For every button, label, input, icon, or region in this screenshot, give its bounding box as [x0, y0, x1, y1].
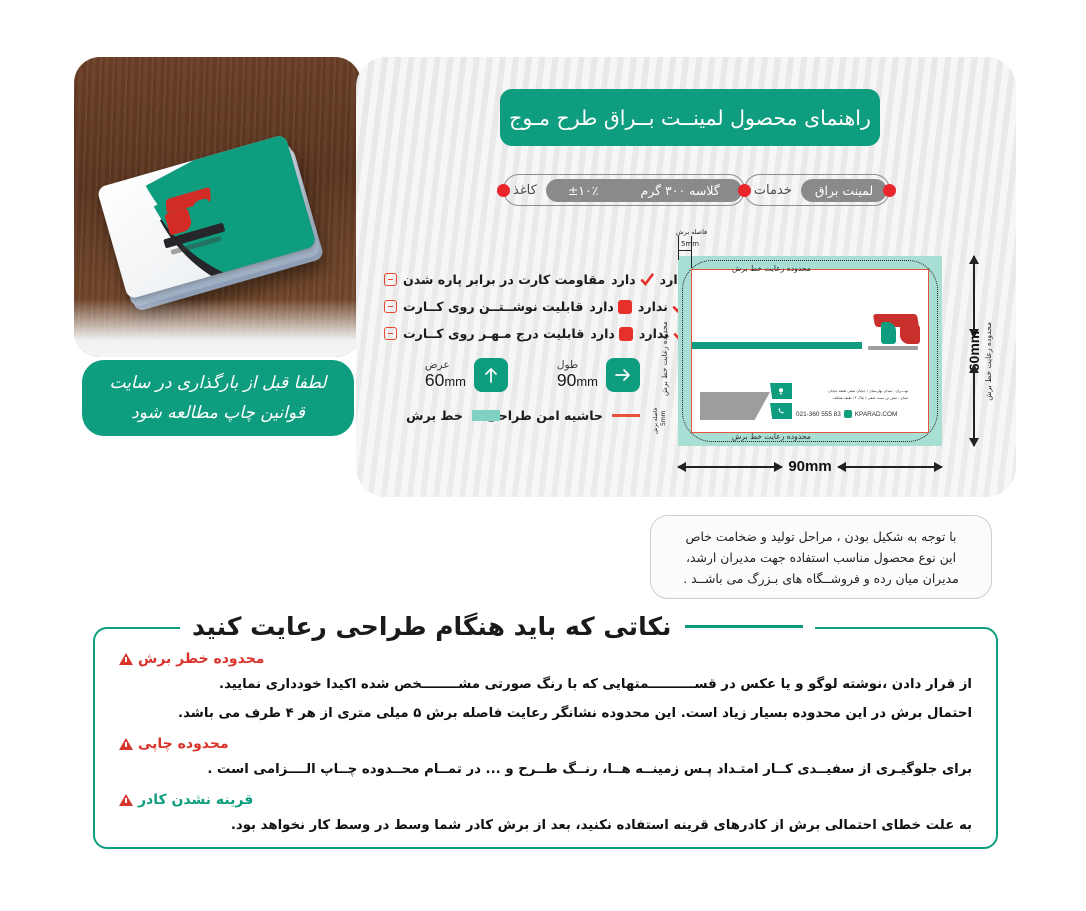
- design-note: محدوده خطر برش از قرار دادن ،نوشته لوگو …: [119, 651, 972, 727]
- card-spec-diagram: تهــــران : میدان بهارستان / خیابان صفی …: [652, 226, 982, 476]
- filled-square-icon: [619, 327, 633, 341]
- product-description-box: با توجه به شکیل بودن ، مراحل تولید و ضخا…: [650, 515, 992, 599]
- spec-dot-right: [497, 184, 510, 197]
- diagram-label-bottom: محدوده رعایت خط برش: [732, 432, 811, 441]
- product-photo-card: [74, 57, 361, 357]
- checklist-option-yes: دارد: [589, 299, 632, 314]
- width-dimension-line: 90mm: [678, 458, 942, 475]
- diagram-label-left: محدوده رعایت خط برش: [660, 321, 669, 396]
- card-contact: 021-360 555 83 KPARAD.COM: [796, 410, 897, 418]
- diagram-width-value: 90mm: [788, 458, 831, 475]
- bleed-arrow-top: [678, 250, 691, 251]
- spec-value-paper-tolerance: ±۱۰٪: [568, 183, 599, 198]
- diagram-legend: حاشیه امن طراحی خط برش: [452, 408, 640, 430]
- dimension-length-unit: mm: [576, 374, 598, 389]
- teal-box-swatch-icon: [472, 410, 500, 421]
- design-note: قرینه نشدن کادر به علت خطای احتمالی برش …: [119, 792, 972, 839]
- dimension-badges: طول 90mm عرض 60mm: [452, 358, 640, 398]
- dimension-width-value: 60: [425, 370, 444, 390]
- description-line-3: مدیران میان رده و فروشــگاه های بـزرگ می…: [683, 571, 958, 586]
- card-address: تهــــران : میدان بهارستان / خیابان صفی …: [796, 388, 908, 402]
- dimension-length: طول 90mm: [557, 358, 640, 392]
- dimension-width: عرض 60mm: [425, 358, 508, 392]
- diagram-card-artwork: تهــــران : میدان بهارستان / خیابان صفی …: [691, 269, 929, 433]
- checklist-row: قابلیت نوشــتــن روی کــارت دارد ندارد: [384, 293, 634, 320]
- card-logo: [862, 312, 920, 346]
- spec-value-service: لمینت براق: [801, 179, 887, 202]
- legend-cut-line: خط برش: [406, 408, 500, 423]
- tick-left: [678, 236, 679, 260]
- card-address-line1: تهــــران : میدان بهارستان / خیابان صفی …: [796, 388, 908, 395]
- spec-value-paper-main: گلاسه ۳۰۰ گرم: [640, 183, 719, 198]
- upload-notice-line1: لطفا قبل از بارگذاری در سایت: [110, 373, 327, 393]
- diagram-bleed-value-bottom: 5mm: [660, 410, 667, 426]
- checklist-row: مقاومت کارت در برابر پاره شدن دارد ندارد: [384, 266, 634, 293]
- page-title: راهنمای محصول لمینــت بــراق طرح مـوج: [509, 106, 871, 130]
- spec-group-paper: کاغذ گلاسه ۳۰۰ گرم ±۱۰٪: [503, 174, 745, 206]
- globe-icon: [844, 410, 852, 418]
- note-title: محدوده چاپی: [138, 736, 229, 752]
- note-title-row: قرینه نشدن کادر: [119, 792, 972, 808]
- phone-icon: [770, 403, 792, 419]
- diagram-bleed-caption-top: فاصله برش: [676, 228, 707, 236]
- dimension-width-unit: mm: [444, 374, 466, 389]
- infographic-stage: لطفا قبل از بارگذاری در سایت قوانین چاپ …: [0, 0, 1086, 911]
- spec-value-paper: گلاسه ۳۰۰ گرم ±۱۰٪: [546, 179, 742, 202]
- checklist-yes-label: دارد: [589, 299, 614, 314]
- bullet-icon: [384, 273, 397, 286]
- checklist-option-yes: دارد: [611, 272, 654, 287]
- note-paragraph: از قرار دادن ،نوشته لوگو و یا عکس در قسـ…: [119, 672, 972, 698]
- note-title-row: محدوده چاپی: [119, 736, 972, 752]
- design-notes-heading: نکاتی که باید هنگام طراحی رعایت کنید: [180, 612, 815, 641]
- checklist-yes-label: دارد: [590, 326, 615, 341]
- card-gray-shape: [700, 392, 770, 420]
- design-notes-box: محدوده خطر برش از قرار دادن ،نوشته لوگو …: [93, 627, 998, 849]
- bullet-icon: [384, 327, 397, 340]
- note-title: محدوده خطر برش: [138, 651, 264, 667]
- card-phone: 021-360 555 83: [796, 411, 841, 418]
- legend-safe-margin: حاشیه امن طراحی: [486, 408, 640, 423]
- diagram-label-top: محدوده رعایت خط برش: [732, 264, 811, 273]
- arrow-up-icon: [474, 358, 508, 392]
- legend-safe-margin-label: حاشیه امن طراحی: [486, 408, 603, 423]
- checklist-feature-label: مقاومت کارت در برابر پاره شدن: [403, 272, 605, 287]
- bullet-icon: [384, 300, 397, 313]
- spec-dot-middle: [738, 184, 751, 197]
- height-dimension-line: 60mm: [954, 256, 994, 446]
- note-paragraph: به علت خطای احتمالی برش از کادرهای قرینه…: [119, 813, 972, 839]
- filled-square-icon: [618, 300, 632, 314]
- spec-label-paper: کاغذ: [506, 183, 546, 198]
- checklist-row: قابلیت درج مـهـر روی کــارت دارد ندارد: [384, 320, 634, 347]
- card-teal-bar: [692, 342, 862, 349]
- note-paragraph: برای جلوگیـری از سفیــدی کــار امتـداد پ…: [119, 757, 972, 783]
- dimension-length-value: 90: [557, 370, 576, 390]
- heading-rule: [685, 625, 803, 628]
- checklist-feature-label: قابلیت نوشــتــن روی کــارت: [403, 299, 583, 314]
- description-line-1: با توجه به شکیل بودن ، مراحل تولید و ضخا…: [686, 529, 957, 544]
- warning-triangle-icon: [119, 794, 133, 806]
- card-website: KPARAD.COM: [855, 411, 898, 418]
- spec-dot-left: [883, 184, 896, 197]
- notes-heading-text: نکاتی که باید هنگام طراحی رعایت کنید: [192, 612, 671, 641]
- spec-label-service: خدمات: [747, 183, 801, 198]
- note-title-row: محدوده خطر برش: [119, 651, 972, 667]
- checklist-yes-label: دارد: [611, 272, 636, 287]
- warning-triangle-icon: [119, 738, 133, 750]
- description-line-2: این نوع محصول مناسب استفاده جهت مدیران ا…: [686, 550, 956, 565]
- feature-checklist: مقاومت کارت در برابر پاره شدن دارد ندارد…: [384, 266, 634, 347]
- upload-notice-line2: قوانین چاپ مطالعه شود: [131, 403, 305, 423]
- note-paragraph: احتمال برش در این محدوده بسیار زیاد است.…: [119, 701, 972, 727]
- legend-cut-line-label: خط برش: [406, 408, 463, 423]
- card-address-line2: صباح : نبش بن بست صفی / پلاک ۱۴ طبقه همک…: [796, 395, 908, 402]
- photo-bottom-fade: [74, 299, 361, 357]
- tick-inner: [691, 236, 692, 268]
- checklist-option-yes: دارد: [590, 326, 633, 341]
- card-stack-top-face: [96, 134, 316, 300]
- upload-notice-box: لطفا قبل از بارگذاری در سایت قوانین چاپ …: [82, 360, 354, 436]
- note-title: قرینه نشدن کادر: [138, 792, 253, 808]
- checklist-feature-label: قابلیت درج مـهـر روی کــارت: [403, 326, 584, 341]
- red-line-swatch-icon: [612, 414, 640, 417]
- spec-pill-row: کاغذ گلاسه ۳۰۰ گرم ±۱۰٪ خدمات لمینت براق: [497, 174, 881, 206]
- guide-title-bar: راهنمای محصول لمینــت بــراق طرح مـوج: [500, 89, 880, 146]
- location-pin-icon: [770, 383, 792, 399]
- spec-group-service: خدمات لمینت براق: [744, 174, 890, 206]
- arrow-right-icon: [606, 358, 640, 392]
- diagram-bleed-caption-bottom: فاصله برش: [653, 408, 659, 434]
- warning-triangle-icon: [119, 653, 133, 665]
- design-note: محدوده چاپی برای جلوگیـری از سفیــدی کــ…: [119, 736, 972, 783]
